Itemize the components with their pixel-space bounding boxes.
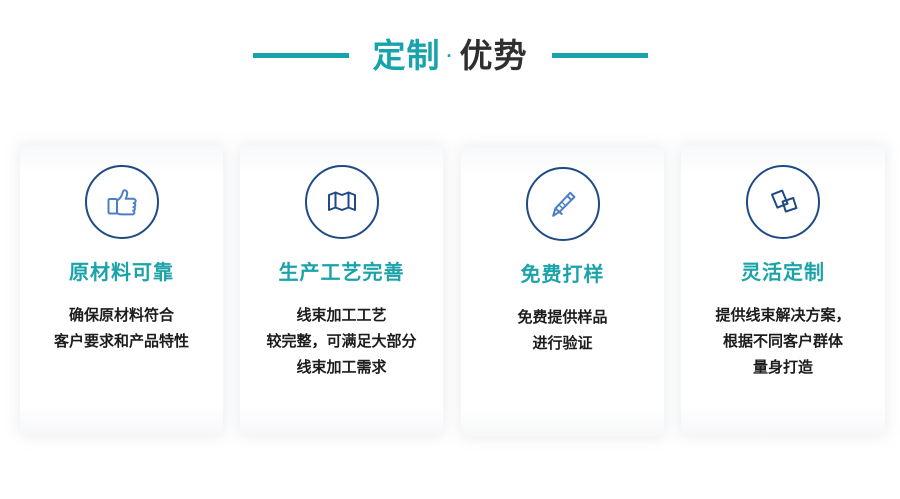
page-title-separator: · xyxy=(447,47,454,65)
feature-card-body-line: 进行验证 xyxy=(474,331,652,357)
feature-card-body: 免费提供样品 进行验证 xyxy=(474,305,652,357)
page-title-main: 优势 xyxy=(460,39,528,72)
feature-card-production-process[interactable]: 生产工艺完善 线束加工工艺 较完整，可满足大部分 线束加工需求 xyxy=(240,145,443,435)
feature-card-body-line: 根据不同客户群体 xyxy=(694,329,872,355)
feature-card-free-sample[interactable]: 免费打样 免费提供样品 进行验证 xyxy=(461,147,664,437)
thumbs-up-icon xyxy=(85,165,159,239)
feature-card-body-line: 量身打造 xyxy=(694,355,872,381)
feature-card-body: 提供线束解决方案， 根据不同客户群体 量身打造 xyxy=(694,303,872,381)
heading-rule-left xyxy=(253,53,349,58)
feature-card-body-line: 提供线束解决方案， xyxy=(694,303,872,329)
feature-card-body-line: 免费提供样品 xyxy=(474,305,652,331)
folded-map-icon xyxy=(305,165,379,239)
feature-card-body-line: 客户要求和产品特性 xyxy=(33,329,211,355)
feature-card-body-line: 线束加工需求 xyxy=(253,355,431,381)
feature-card-body-line: 较完整，可满足大部分 xyxy=(253,329,431,355)
feature-card-raw-material[interactable]: 原材料可靠 确保原材料符合 客户要求和产品特性 xyxy=(20,145,223,435)
feature-card-body: 确保原材料符合 客户要求和产品特性 xyxy=(33,303,211,355)
pencil-icon xyxy=(526,167,600,241)
feature-card-list: 原材料可靠 确保原材料符合 客户要求和产品特性 生产工艺完善 线束加工工艺 较完… xyxy=(0,145,900,445)
section-header: 定制 · 优势 xyxy=(0,24,900,86)
feature-card-title: 生产工艺完善 xyxy=(279,263,405,283)
feature-card-body-line: 确保原材料符合 xyxy=(33,303,211,329)
page-title-accent: 定制 xyxy=(373,39,441,72)
stacked-cards-icon xyxy=(746,165,820,239)
feature-card-title: 免费打样 xyxy=(521,265,605,285)
feature-card-body: 线束加工工艺 较完整，可满足大部分 线束加工需求 xyxy=(253,303,431,381)
feature-card-flexible-customization[interactable]: 灵活定制 提供线束解决方案， 根据不同客户群体 量身打造 xyxy=(681,145,885,435)
page-title: 定制 · 优势 xyxy=(373,39,528,72)
heading-rule-right xyxy=(552,53,648,58)
feature-card-body-line: 线束加工工艺 xyxy=(253,303,431,329)
feature-card-title: 灵活定制 xyxy=(741,263,825,283)
feature-card-title: 原材料可靠 xyxy=(69,263,174,283)
